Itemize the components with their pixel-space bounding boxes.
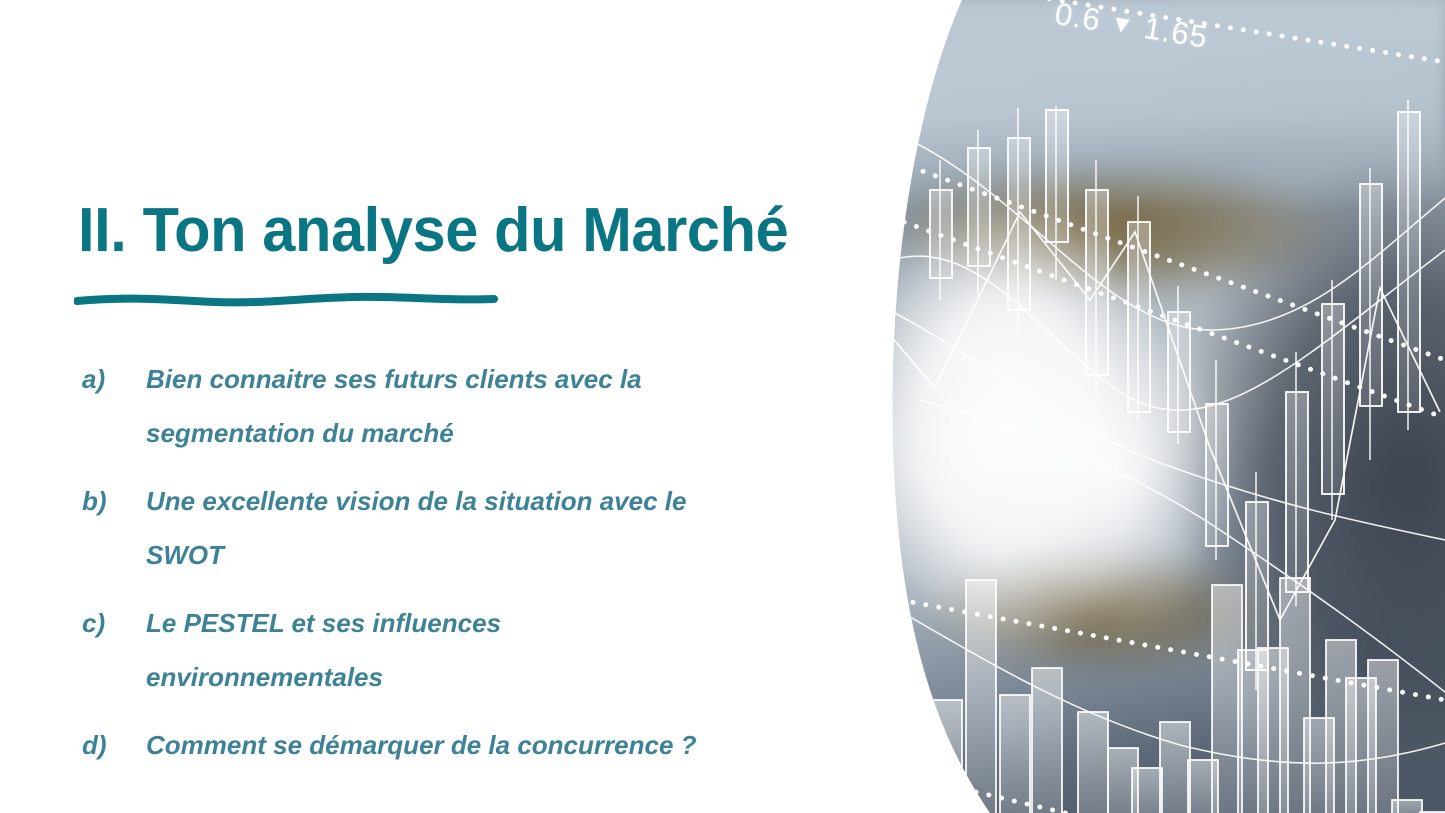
list-item-marker: a) bbox=[82, 352, 146, 406]
list-item-marker: b) bbox=[82, 474, 146, 528]
list-item: b) Une excellente vision de la situation… bbox=[82, 474, 882, 582]
list-item-text: Comment se démarquer de la concurrence ? bbox=[146, 718, 706, 772]
slide: II. Ton analyse du Marché a) Bien connai… bbox=[0, 0, 1445, 813]
financial-chart-overlay bbox=[880, 0, 1445, 813]
bullet-list: a) Bien connaitre ses futurs clients ave… bbox=[82, 352, 882, 786]
volume-bar-series bbox=[932, 578, 1445, 813]
list-item-marker: c) bbox=[82, 596, 146, 650]
ticker-down-arrow-icon: ▼ bbox=[1108, 10, 1137, 41]
decorative-image-panel: 0.6 ▼ 1.65 bbox=[880, 0, 1445, 813]
list-item: d) Comment se démarquer de la concurrenc… bbox=[82, 718, 882, 772]
list-item-text: Le PESTEL et ses influences environnemen… bbox=[146, 596, 706, 704]
list-item-marker: d) bbox=[82, 718, 146, 772]
title-underline bbox=[74, 290, 494, 308]
page-title: II. Ton analyse du Marché bbox=[78, 198, 846, 263]
list-item: a) Bien connaitre ses futurs clients ave… bbox=[82, 352, 882, 460]
list-item-text: Bien connaitre ses futurs clients avec l… bbox=[146, 352, 702, 460]
slide-content: II. Ton analyse du Marché a) Bien connai… bbox=[0, 0, 900, 813]
list-item: c) Le PESTEL et ses influences environne… bbox=[82, 596, 882, 704]
list-item-text: Une excellente vision de la situation av… bbox=[146, 474, 706, 582]
candlestick-series bbox=[930, 100, 1420, 690]
ticker-value-left: 0.6 bbox=[1053, 0, 1104, 38]
